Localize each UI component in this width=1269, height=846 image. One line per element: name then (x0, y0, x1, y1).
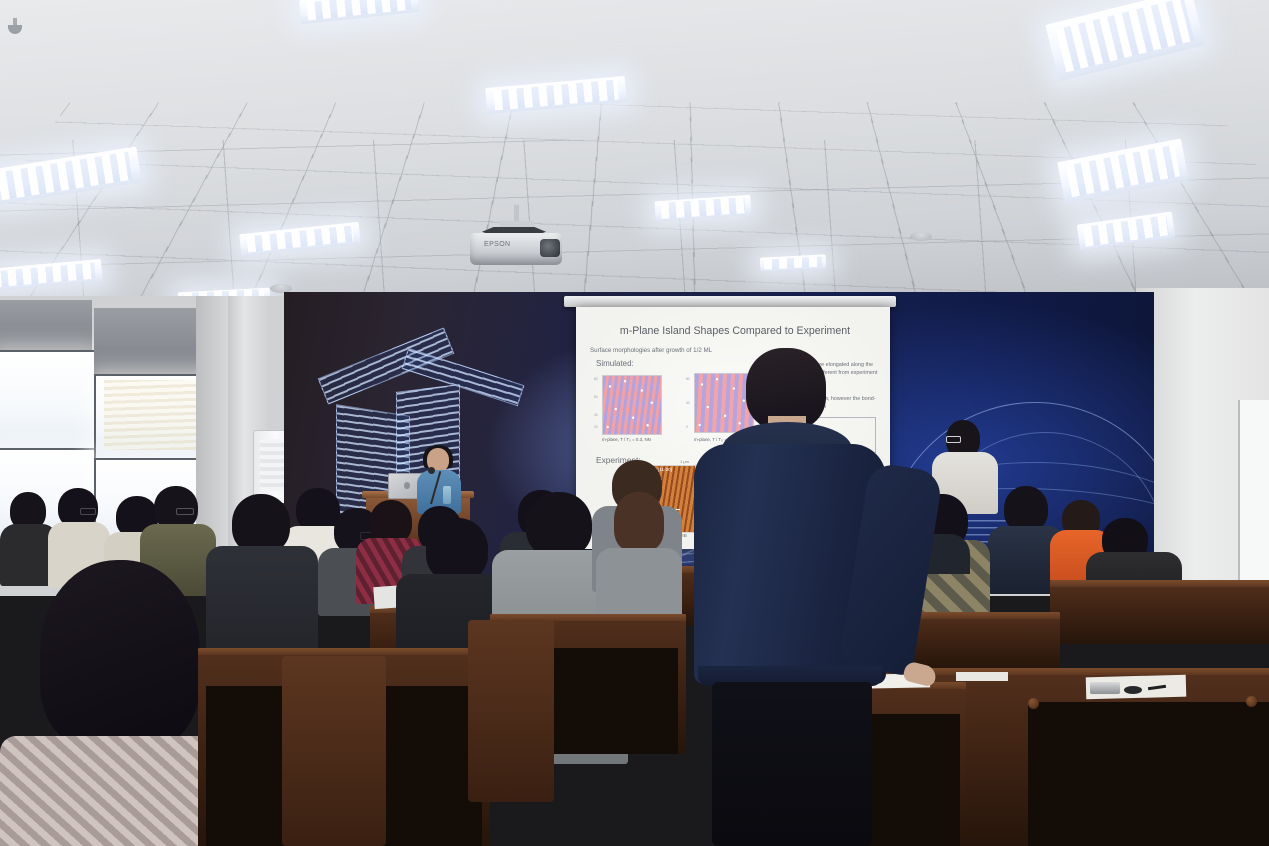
eyeglasses-icon[interactable] (1124, 686, 1142, 694)
ceiling-projector: EPSON (470, 205, 562, 267)
standing-man-navy-hoodie (676, 348, 938, 846)
desk-front-panel (1028, 702, 1269, 846)
chair-back (282, 656, 386, 846)
ceiling: EPSON (0, 0, 1269, 320)
projector-brand-label: EPSON (484, 241, 511, 248)
sprinkler-head-icon (8, 18, 22, 34)
projection-screen-housing (564, 296, 896, 307)
lecture-hall-photo: EPSON (0, 0, 1269, 846)
water-bottle (443, 486, 451, 504)
slide-title: m-Plane Island Shapes Compared to Experi… (590, 325, 880, 337)
paper-sheet[interactable] (956, 672, 1008, 681)
window-pane-1 (0, 350, 96, 450)
fluorescent-panel-1 (299, 0, 419, 24)
slide-section-simulated: Simulated: (596, 359, 634, 368)
smoke-detector-icon (910, 232, 932, 241)
window-blind-1[interactable] (0, 300, 92, 354)
projector-lens-icon (540, 239, 560, 257)
audience-person (596, 492, 682, 610)
desk-knob (1028, 698, 1039, 709)
eyeglasses-icon (176, 508, 194, 515)
eyeglasses-icon (80, 508, 96, 515)
eyeglasses-icon (946, 436, 961, 443)
simulation-panel-1 (602, 375, 662, 435)
chair-back (468, 620, 554, 802)
fluorescent-panel-3 (1045, 0, 1205, 81)
mobile-phone[interactable] (1090, 682, 1120, 694)
desk-knob (1246, 696, 1257, 707)
simulation-panel-1-caption: m-plane, T / T₀ = 0.3, NN (602, 437, 651, 442)
apple-logo-icon (404, 482, 410, 489)
lecture-desk (1050, 580, 1269, 644)
